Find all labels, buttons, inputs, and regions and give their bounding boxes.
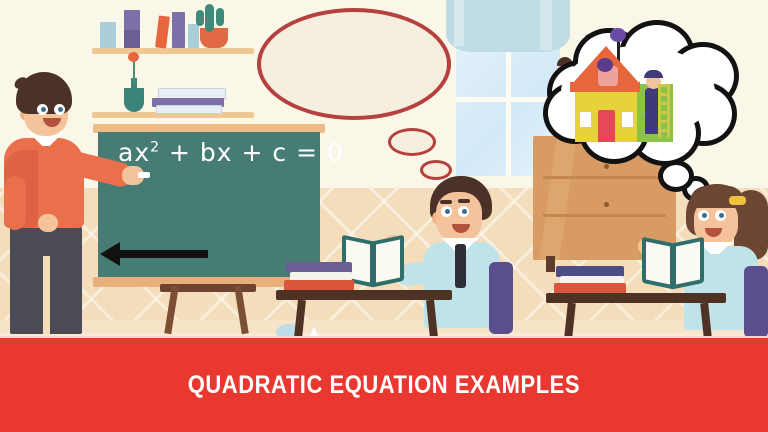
girl-brow-right [715,203,727,207]
equation-rest: + bx + c = 0 [160,138,344,167]
flower-icon [128,52,139,62]
cabinet-drawer-divider-2 [543,214,666,217]
girl-chair[interactable] [744,266,768,338]
cactus-icon [205,4,214,32]
banner-title-text: QUADRATIC EQUATION EXAMPLES [188,371,580,400]
boy-chair[interactable] [489,262,513,334]
flower-vase [124,88,144,112]
girl-brow-left [697,204,709,208]
cactus-arm-right [216,8,224,26]
classroom-illustration: ax2 + bx + c = 0 [0,0,768,432]
house-window-right [622,112,633,127]
shelf-stack-book-3 [156,105,222,114]
teacher-hand-left [38,214,58,232]
title-banner: QUADRATIC EQUATION EXAMPLES [0,338,768,432]
teacher-pupil-left [41,107,46,112]
girl-pupil-left [702,213,707,218]
cabinet-drawer-divider-1 [543,176,666,179]
bubble-trail-large [388,128,436,156]
teacher-brow-left [36,98,48,102]
girl-pupil-right [719,213,724,218]
shelf-book-blue [100,22,116,48]
teacher-arm-left [4,176,26,230]
girl-hair-tie [729,196,746,205]
cabinet-knob-1[interactable] [604,164,609,169]
girl-book-page-right [676,241,700,284]
shelf-book-purple-2 [124,30,140,48]
shelf-book-teal [188,24,199,48]
boy-pupil-right [462,209,467,214]
shelf-book-violet [172,12,185,48]
house-window-left [580,112,591,127]
girl-open-book [642,240,704,286]
boy-brow-right [458,199,470,203]
worker-on-roof-head [597,58,613,72]
crane-hook-icon [610,28,626,42]
boy-brow-left [440,200,452,204]
cabinet-knob-2[interactable] [604,202,609,207]
girl-desk-top [546,293,726,303]
wall-shelf-top [92,48,254,54]
teacher-leg-gap [43,256,50,334]
basketball-bubble-body [257,8,451,120]
cactus-pot [200,28,228,48]
equation-exponent: 2 [150,140,160,156]
pointer-arrow-line [116,250,208,258]
teacher-brow-right [54,97,66,101]
cabinet-leg-left [546,256,555,272]
chalk-icon [138,172,150,178]
ladder [658,84,670,138]
blackboard-equation: ax2 + bx + c = 0 [118,138,344,167]
book-page-right [376,239,400,282]
house-door [598,110,615,142]
worker-hardhat-icon [644,70,663,78]
pointer-arrow-head [100,242,120,266]
girl-book-page-left [646,241,670,284]
boy-tie [455,244,466,288]
teacher-pupil-right [58,107,63,112]
cactus-arm-left [196,10,204,26]
boy-desk-top [276,290,452,300]
bubble-trail-small [420,160,452,180]
boy-pupil-left [445,209,450,214]
